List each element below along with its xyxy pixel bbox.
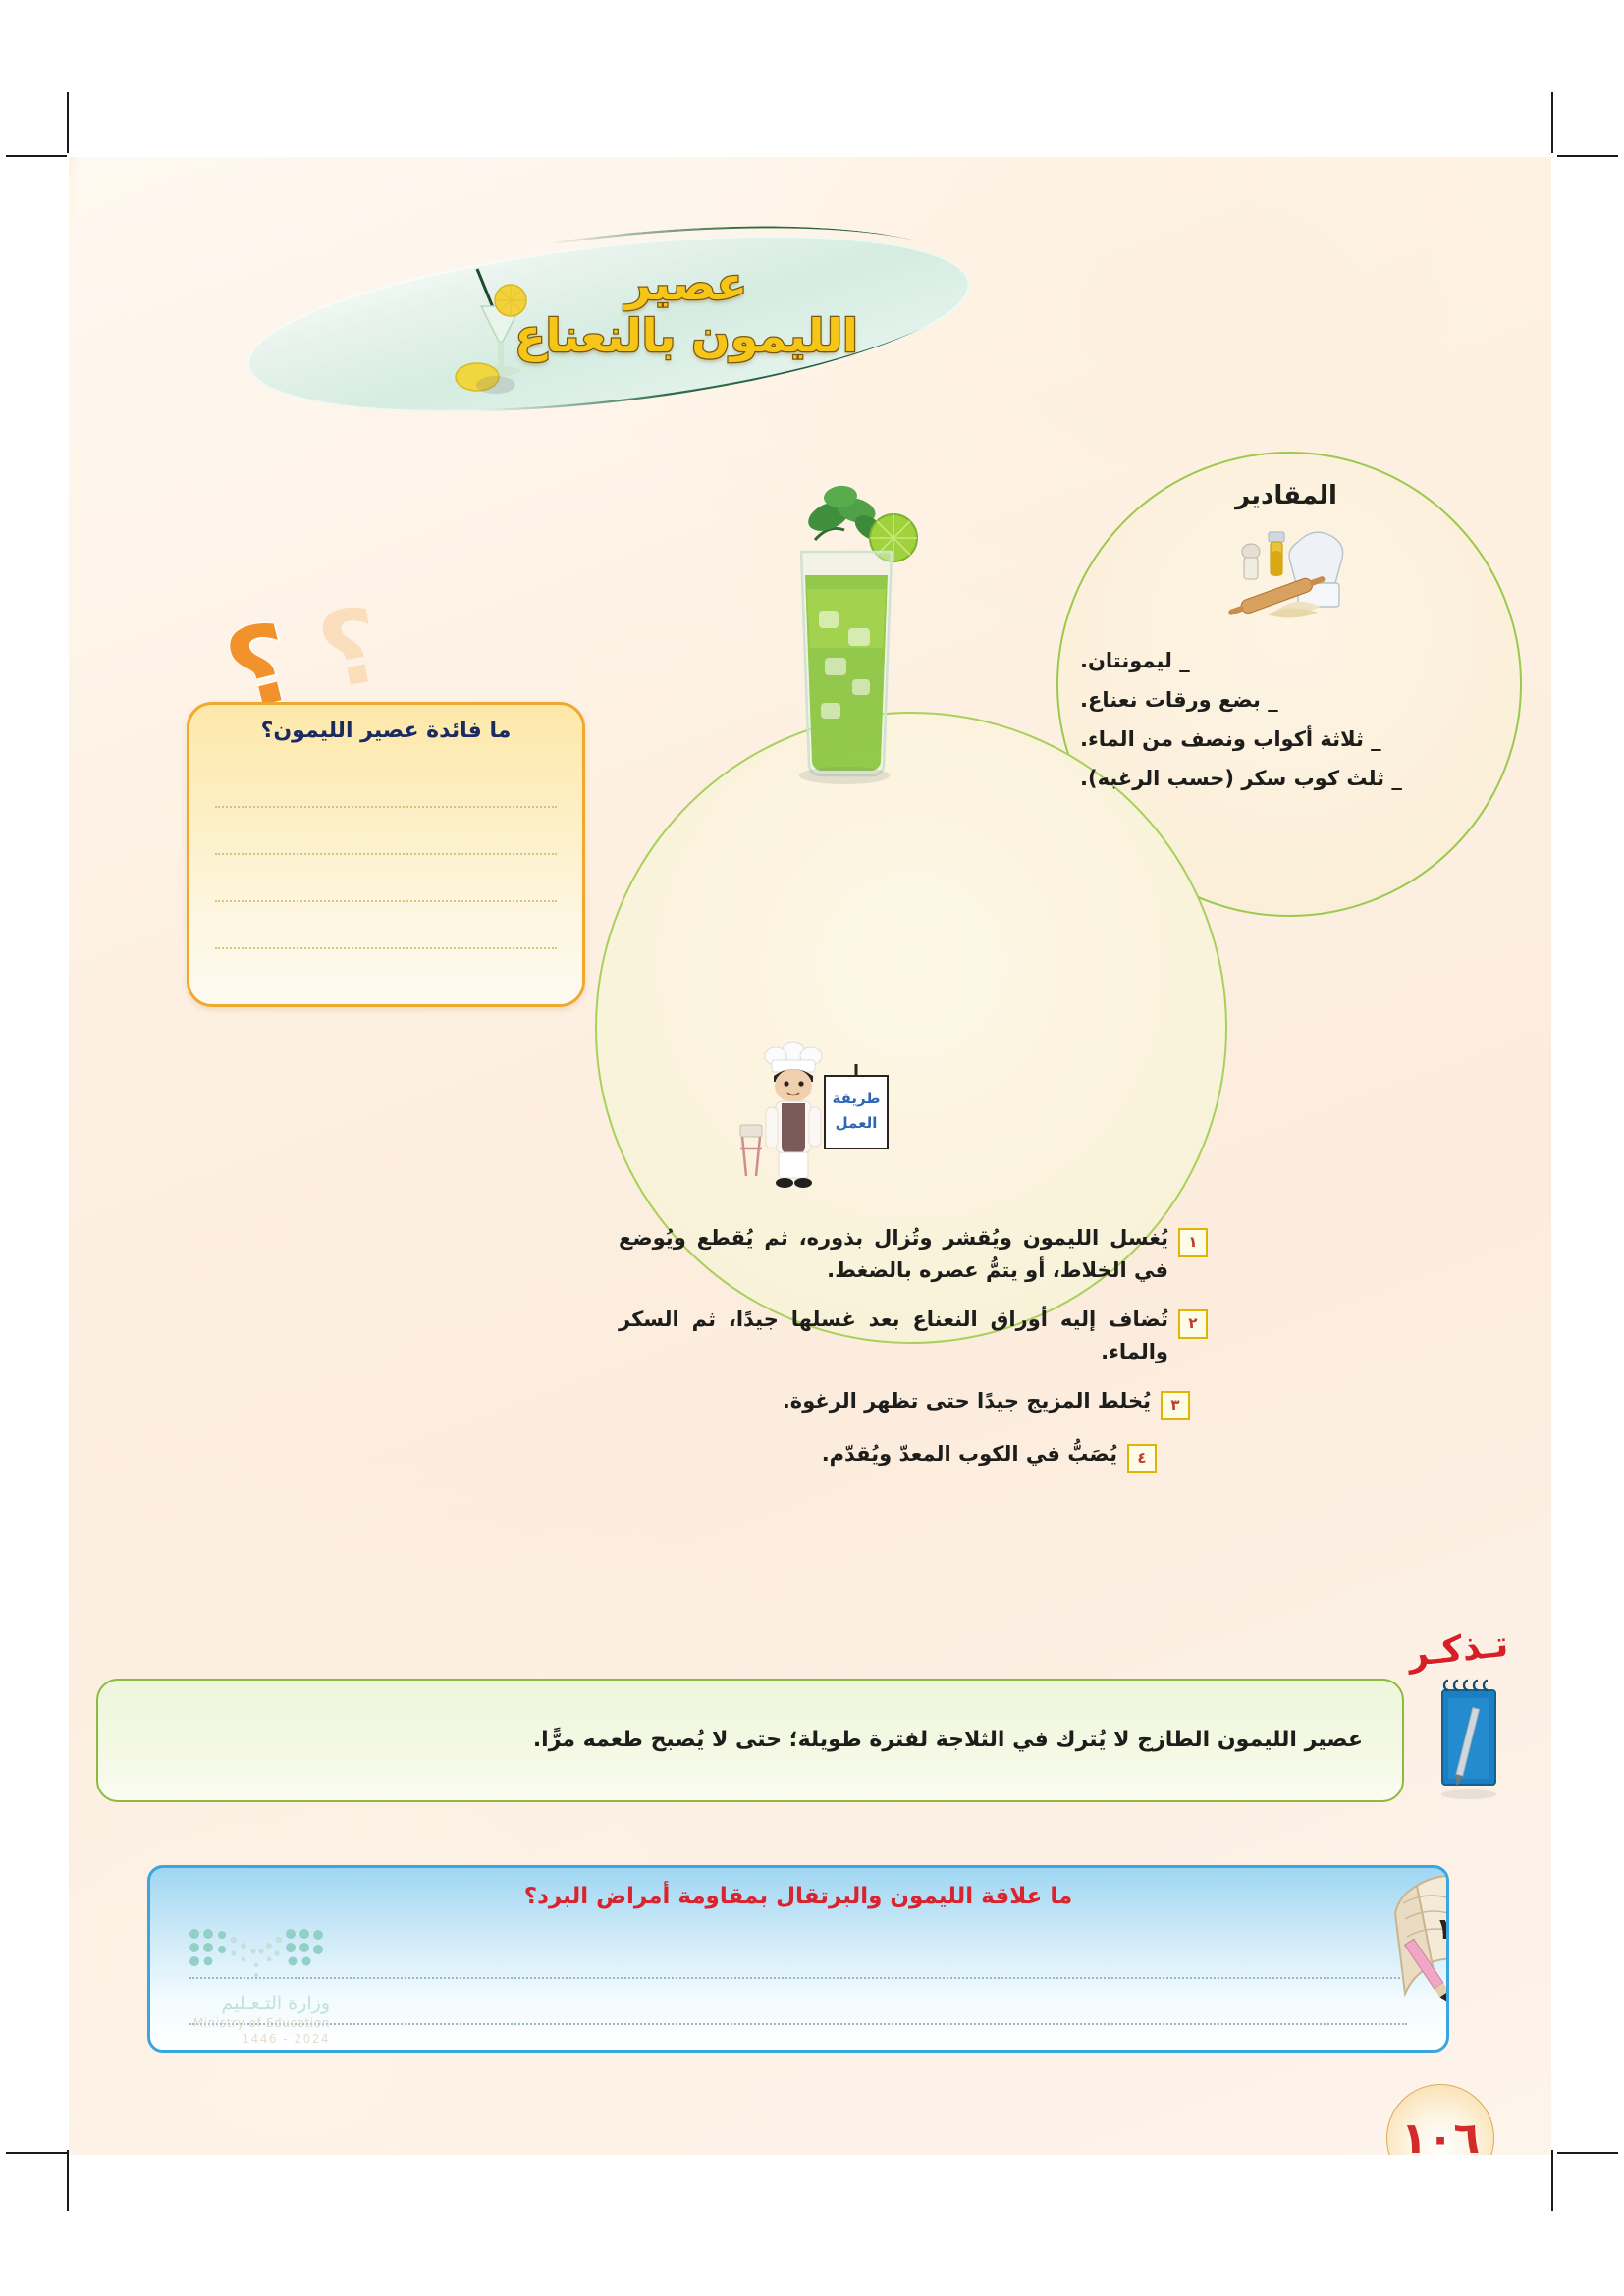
step-text: يُخلط المزيج جيدًا حتى تظهر الرغوة. [783,1385,1151,1417]
ingredient-item: _ ثلاثة أكواب ونصف من الماء. [1080,721,1492,760]
method-step: ٤ يُصَبُّ في الكوب المعدّ ويُقدّم. [619,1438,1208,1473]
cold-illness-answer-area[interactable] [150,1933,1446,2025]
step-number: ٤ [1127,1444,1157,1473]
step-number: ٣ [1161,1391,1190,1420]
exercise-number: ٣ [1439,1912,1449,1947]
title-line-2: الليمون بالنعناع [456,313,917,359]
step-text: يُغسل الليمون ويُقشر وتُزال بذوره، ثم يُ… [619,1222,1168,1286]
answer-line[interactable] [215,761,557,808]
crop-mark-top-left-h [6,155,67,157]
mint-lemonade-photo [746,481,943,805]
cold-illness-question-text: ما علاقة الليمون والبرتقال بمقاومة أمراض… [150,1868,1446,1909]
ingredient-item: _ ليمونتان. [1080,642,1492,681]
benefit-question-card[interactable]: ما فائدة عصير الليمون؟ [187,702,585,1007]
step-number: ٢ [1178,1309,1208,1339]
step-text: يُصَبُّ في الكوب المعدّ ويُقدّم. [822,1438,1117,1470]
ingredients-heading: المقادير [1080,481,1492,510]
ingredients-list: _ ليمونتان. _ بضع ورقات نعناع. _ ثلاثة أ… [1080,642,1492,799]
crop-mark-top-left-v [67,92,69,153]
title-line-1: عصير [456,261,917,307]
step-text: تُضاف إليه أوراق النعناع بعد غسلها جيدًا… [619,1304,1168,1367]
crop-mark-bottom-left-v [67,2150,69,2211]
sign-line-1: طريقة [833,1090,881,1107]
crop-mark-bottom-right-v [1551,2150,1553,2211]
method-step: ٢ تُضاف إليه أوراق النعناع بعد غسلها جيد… [619,1304,1208,1367]
recipe-title-banner: عصير الليمون بالنعناع [245,245,972,402]
cooking-utensils-icon [1208,514,1365,622]
sign-line-2: العمل [836,1114,878,1132]
chef-boy-with-method-sign: طريقة العمل [727,1031,923,1217]
method-steps-list: ١ يُغسل الليمون ويُقشر وتُزال بذوره، ثم … [619,1222,1208,1491]
crop-mark-bottom-left-h [6,2152,67,2154]
remember-box: عصير الليمون الطازج لا يُترك في الثلاجة … [96,1679,1404,1802]
ministry-name-english: Ministry of Education [104,2016,330,2030]
page-number: ١٠٦ [1386,2084,1494,2155]
textbook-page: عصير الليمون بالنعناع المقادير _ ليمونتا… [69,157,1551,2155]
method-step: ١ يُغسل الليمون ويُقشر وتُزال بذوره، ثم … [619,1222,1208,1286]
remember-text: عصير الليمون الطازج لا يُترك في الثلاجة … [476,1723,1402,1757]
method-sign: طريقة العمل [825,1064,888,1148]
notepad-icon [1425,1675,1518,1802]
remember-label: تـذكـر [1382,1622,1533,1677]
crop-mark-top-right-h [1557,155,1618,157]
cold-illness-question-box[interactable]: ٣ ما علاقة الليمون والبرتقال بمقاومة أمر… [147,1865,1449,2053]
benefit-answer-area[interactable] [189,761,582,949]
ministry-of-education-logo: وزارة التـعـليم Ministry of Education 20… [104,1924,330,2046]
ingredient-item: _ بضع ورقات نعناع. [1080,681,1492,721]
ingredient-item: _ ثلث كوب سكر (حسب الرغبه). [1080,760,1492,799]
ministry-years: 2024 - 1446 [104,2032,330,2046]
benefit-question-text: ما فائدة عصير الليمون؟ [189,705,582,743]
answer-line[interactable] [215,808,557,855]
chef-figure [740,1042,822,1188]
crop-mark-top-right-v [1551,92,1553,153]
answer-line[interactable] [215,902,557,949]
saudi-palm-dots-icon [183,1924,330,1983]
recipe-title: عصير الليمون بالنعناع [456,261,917,359]
ministry-name-arabic: وزارة التـعـليم [104,1993,330,2014]
method-step: ٣ يُخلط المزيج جيدًا حتى تظهر الرغوة. [619,1385,1208,1420]
open-book-pencil-icon: ٣ [1383,1865,1449,2013]
answer-line[interactable] [189,1979,1407,2025]
step-number: ١ [1178,1228,1208,1257]
ingredients-section: المقادير _ ليمونتان. _ بضع ورقات نعناع. … [1080,481,1492,799]
answer-line[interactable] [189,1933,1407,1979]
crop-mark-bottom-right-h [1557,2152,1618,2154]
answer-line[interactable] [215,855,557,902]
